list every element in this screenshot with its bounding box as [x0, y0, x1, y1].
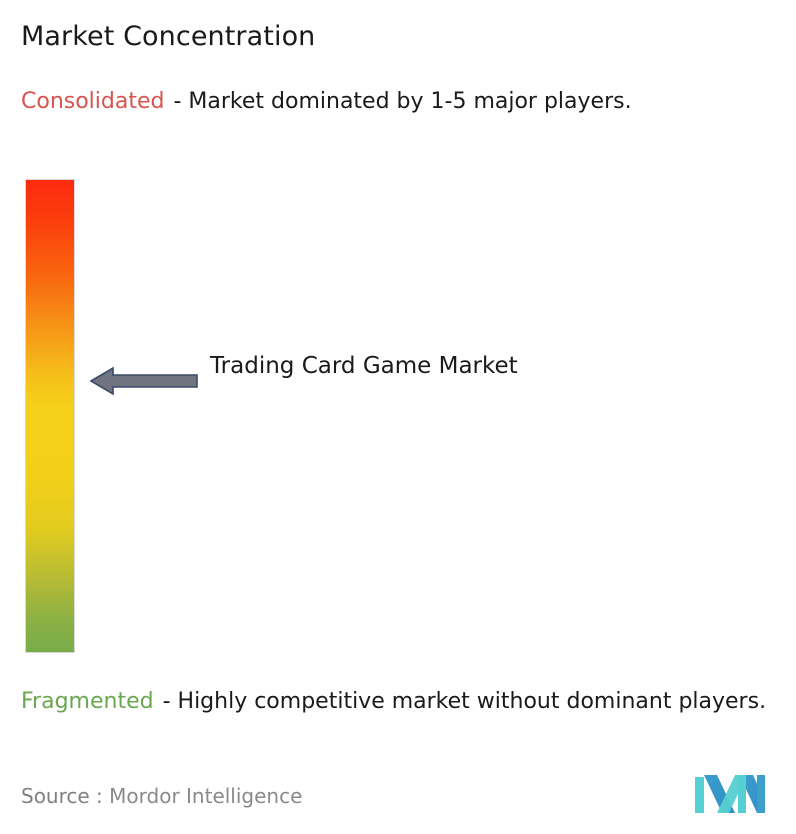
infographic-canvas: Market Concentration Consolidated- Marke… — [0, 0, 796, 834]
source-value: Mordor Intelligence — [109, 784, 302, 808]
market-pointer-label: Trading Card Game Market — [210, 349, 540, 384]
source-label: Source : — [21, 784, 103, 808]
consolidated-caption: Consolidated- Market dominated by 1-5 ma… — [21, 86, 771, 118]
consolidated-keyword: Consolidated — [21, 89, 164, 114]
fragmented-description: - Highly competitive market without domi… — [163, 689, 766, 714]
fragmented-keyword: Fragmented — [21, 689, 154, 714]
consolidated-description: - Market dominated by 1-5 major players. — [173, 89, 631, 114]
concentration-gradient-bar — [26, 180, 74, 652]
source-line: Source : Mordor Intelligence — [21, 782, 302, 810]
page-title: Market Concentration — [21, 20, 315, 54]
fragmented-caption: Fragmented- Highly competitive market wi… — [21, 686, 786, 718]
left-arrow-icon — [90, 366, 198, 396]
mordor-intelligence-logo-icon — [695, 769, 767, 816]
